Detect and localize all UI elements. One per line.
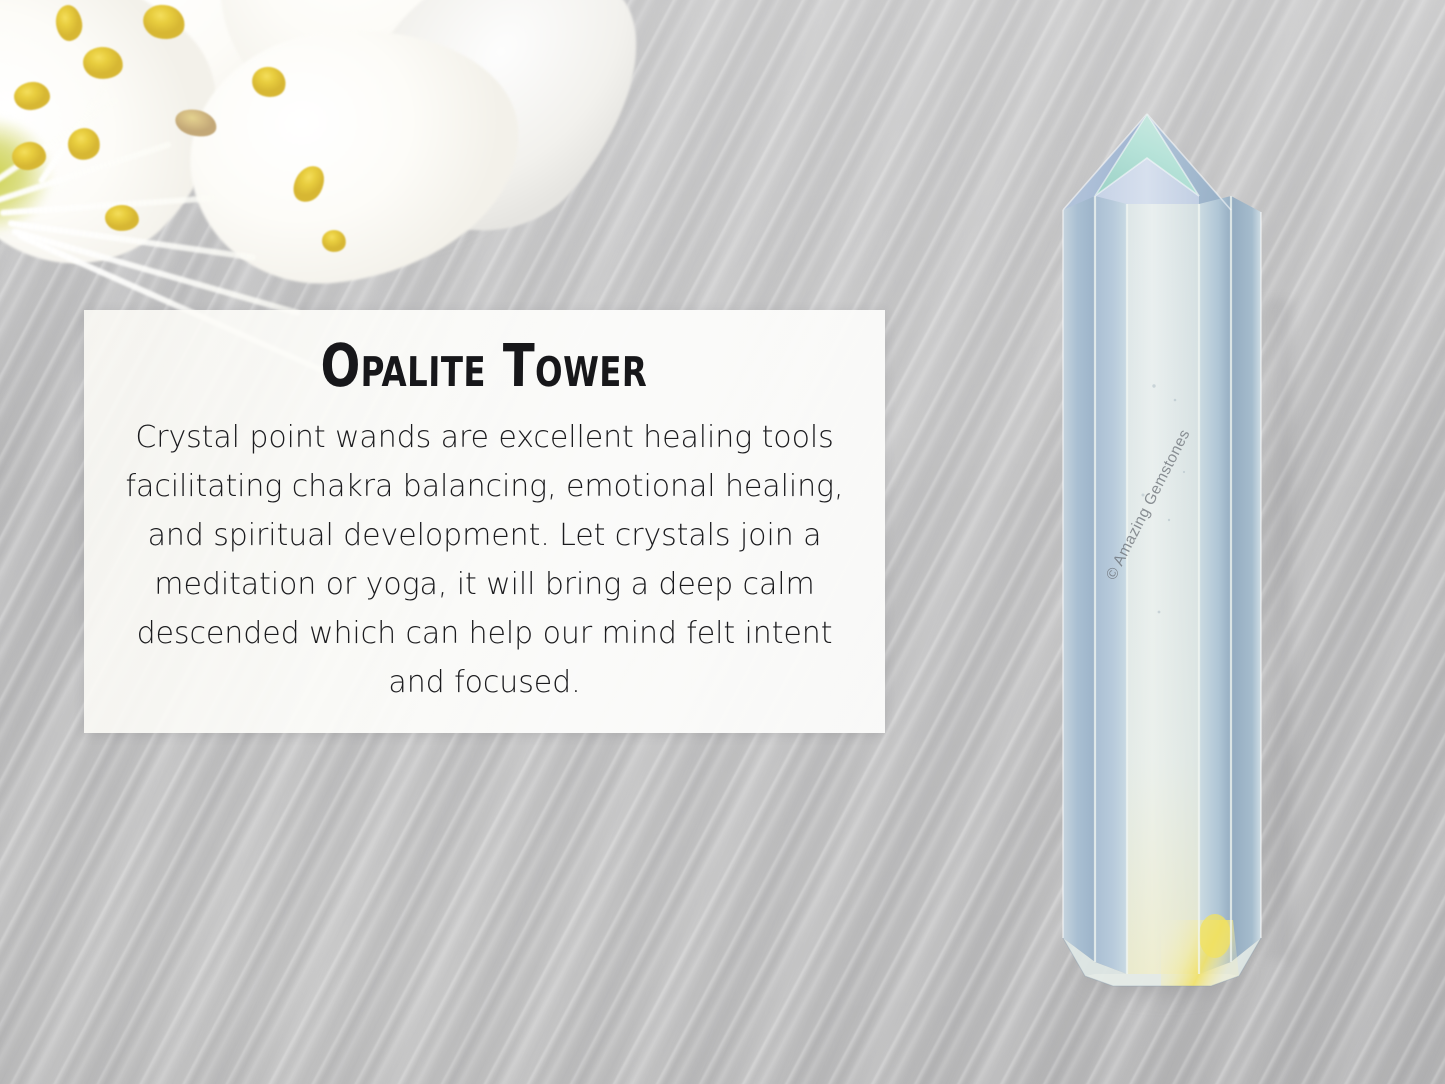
crystal-geometry (1033, 100, 1293, 1000)
description-line: Crystal point wands are excellent healin… (114, 413, 856, 462)
opalite-crystal-tower: © Amazing Gemstones (1033, 100, 1293, 1000)
description-line: descended which can help our mind felt i… (114, 609, 856, 658)
description-line: facilitating chakra balancing, emotional… (114, 462, 856, 511)
crystal-facet-far-right (1231, 196, 1261, 962)
description-line: and spiritual development. Let crystals … (114, 511, 856, 560)
description-line: meditation or yoga, it will bring a deep… (114, 560, 856, 609)
crystal-facet-far-left (1063, 196, 1095, 962)
product-info-card: Opalite Tower Crystal point wands are ex… (84, 310, 885, 733)
product-image: Opalite Tower Crystal point wands are ex… (0, 0, 1445, 1084)
crystal-facet-left (1095, 196, 1127, 974)
product-description: Crystal point wands are excellent healin… (90, 395, 879, 707)
page-title: Opalite Tower (131, 310, 837, 395)
crystal-facet-center-fire (1127, 204, 1199, 974)
crystal-facet-right (1199, 196, 1231, 974)
description-line: and focused. (114, 658, 856, 707)
crystal-fire-flash (1199, 914, 1231, 958)
